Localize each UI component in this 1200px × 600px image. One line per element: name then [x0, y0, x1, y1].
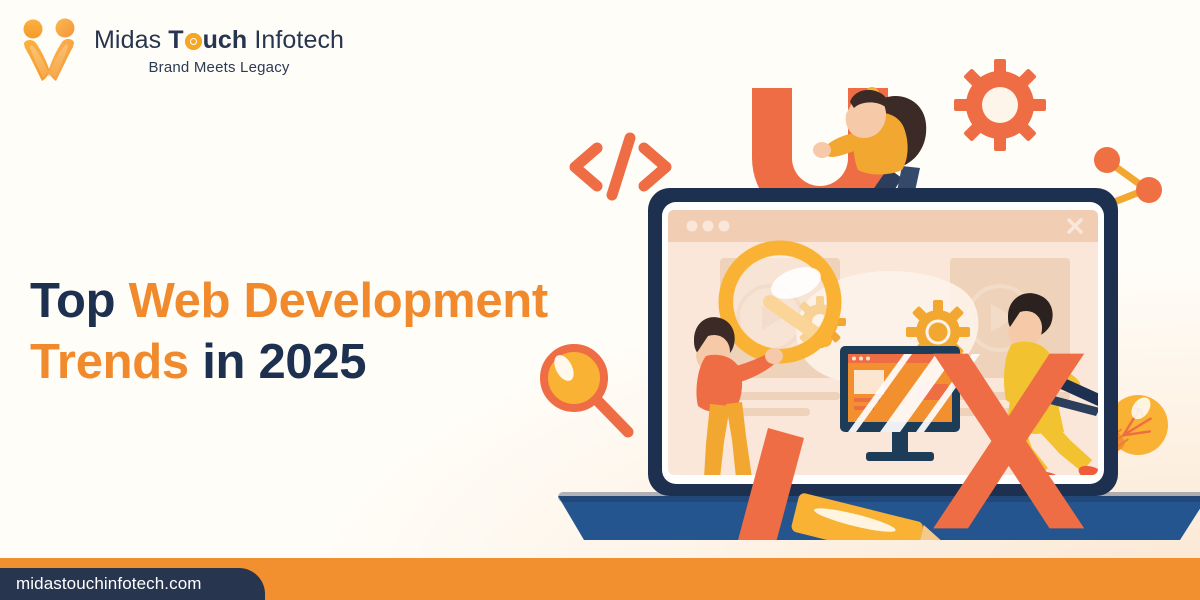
brand-name-touch-t: T: [168, 26, 183, 54]
headline-trends: Trends: [30, 335, 189, 389]
footer-bar: midastouchinfotech.com: [0, 558, 1200, 600]
headline-top: Top: [30, 274, 129, 328]
banner-root: MidasTuchInfotech Brand Meets Legacy Top…: [0, 0, 1200, 600]
code-brackets-icon: [575, 138, 666, 195]
brand-logo[interactable]: MidasTuchInfotech Brand Meets Legacy: [18, 14, 344, 84]
magnifier-icon: [544, 348, 628, 432]
browser-window: [668, 210, 1108, 492]
browser-dots: [687, 221, 730, 232]
gear-icon: [954, 59, 1046, 151]
brand-name-touch-rest: uch: [203, 26, 248, 54]
website-url: midastouchinfotech.com: [0, 574, 202, 594]
magnifier-icon-on-screen: [726, 248, 834, 356]
brand-text: MidasTuchInfotech Brand Meets Legacy: [94, 24, 344, 75]
hero-illustration: [520, 40, 1200, 540]
brand-name: MidasTuchInfotech: [94, 28, 344, 53]
headline-in-2025: in 2025: [189, 335, 366, 389]
brand-tagline: Brand Meets Legacy: [94, 60, 344, 75]
brand-name-midas: Midas: [94, 26, 161, 54]
website-url-pill[interactable]: midastouchinfotech.com: [0, 568, 265, 600]
brand-name-infotech: Infotech: [254, 26, 344, 54]
headline-webdev: Web Development: [129, 274, 548, 328]
fingerprint-o-icon: [185, 33, 202, 50]
midas-touch-people-m-logo-icon: [18, 14, 84, 84]
